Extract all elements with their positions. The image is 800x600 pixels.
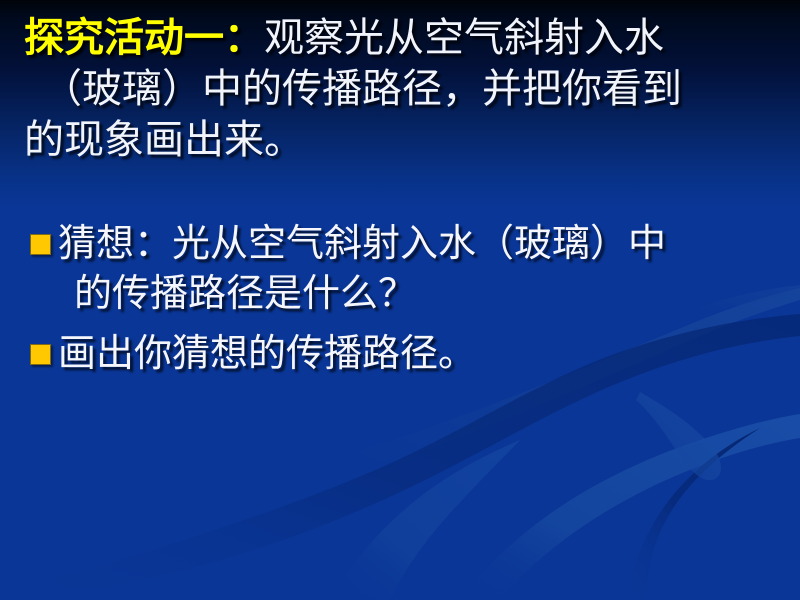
bullet-text-1: 猜想：光从空气斜射入水（玻璃）中的传播路径是什么？ (58, 218, 786, 318)
list-item: 画出你猜想的传播路径。 (30, 328, 786, 378)
square-bullet-icon (30, 234, 51, 255)
title-line-1: 探究活动一：观察光从空气斜射入水 (24, 13, 780, 64)
bullet-1-line-2: 的传播路径是什么？ (58, 268, 786, 318)
bullet-2-line-1: 画出你猜想的传播路径。 (58, 331, 476, 375)
bullet-text-2: 画出你猜想的传播路径。 (58, 328, 786, 378)
slide-title: 探究活动一：观察光从空气斜射入水 （玻璃）中的传播路径，并把你看到 的现象画出来… (24, 13, 780, 166)
list-item: 猜想：光从空气斜射入水（玻璃）中的传播路径是什么？ (30, 218, 786, 318)
title-line-2: （玻璃）中的传播路径，并把你看到 (24, 64, 780, 115)
square-bullet-icon (30, 344, 51, 365)
title-line-1-text: 观察光从空气斜射入水 (264, 15, 664, 61)
slide-content: 探究活动一：观察光从空气斜射入水 （玻璃）中的传播路径，并把你看到 的现象画出来… (0, 0, 800, 600)
title-line-3: 的现象画出来。 (24, 115, 780, 166)
presentation-slide: 探究活动一：观察光从空气斜射入水 （玻璃）中的传播路径，并把你看到 的现象画出来… (0, 0, 800, 600)
bullet-1-line-1: 猜想：光从空气斜射入水（玻璃）中 (58, 221, 666, 265)
bullet-list: 猜想：光从空气斜射入水（玻璃）中的传播路径是什么？ 画出你猜想的传播路径。 (30, 218, 786, 388)
title-highlight: 探究活动一： (24, 15, 264, 61)
